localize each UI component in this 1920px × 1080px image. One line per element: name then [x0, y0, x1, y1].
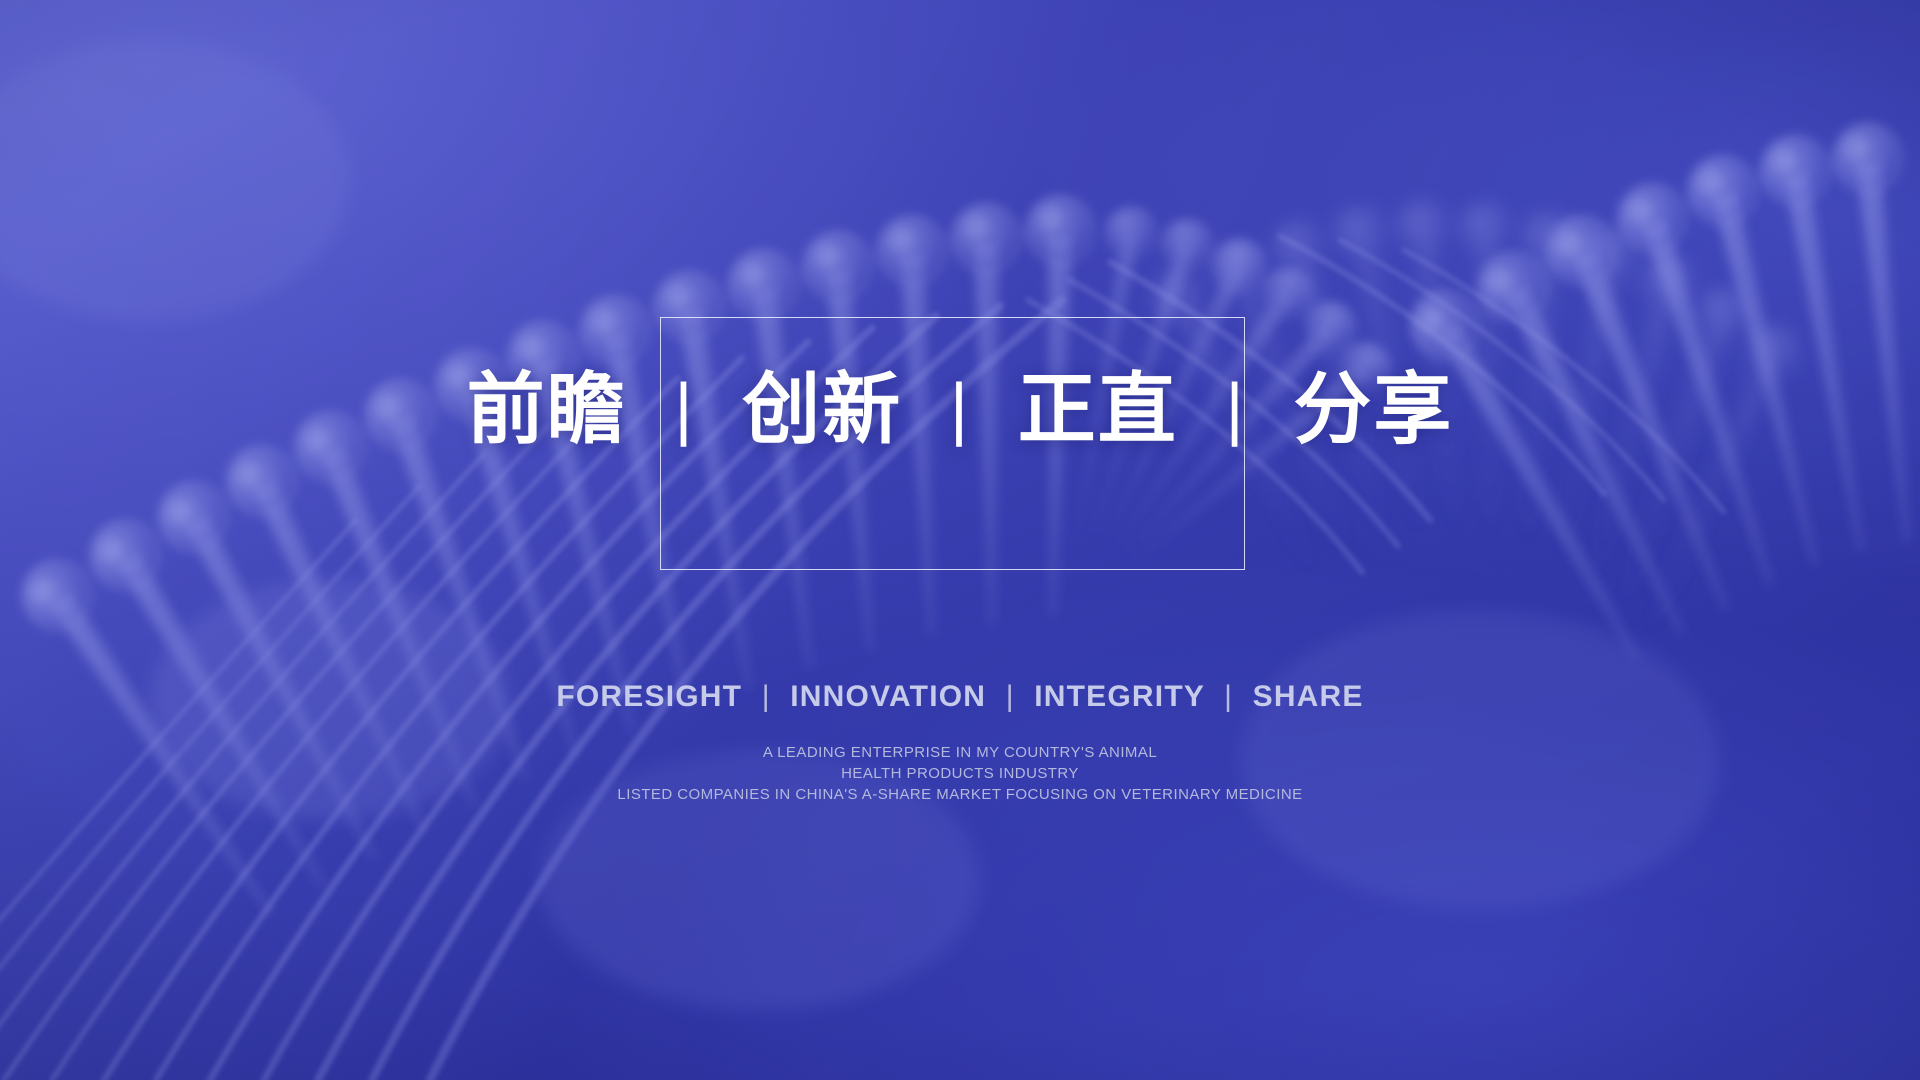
descriptor-line-2: HEALTH PRODUCTS INDUSTRY: [0, 763, 1920, 784]
heading-separator: |: [950, 373, 970, 443]
values-heading-english: FORESIGHT | INNOVATION | INTEGRITY | SHA…: [0, 680, 1920, 714]
descriptor-line-1: A LEADING ENTERPRISE IN MY COUNTRY'S ANI…: [0, 742, 1920, 763]
value-word-innovation-cn: 创新: [742, 365, 902, 453]
value-word-share-cn: 分享: [1293, 365, 1453, 453]
english-separator: |: [1006, 680, 1015, 713]
english-separator: |: [1224, 680, 1233, 713]
value-word-foresight-en: FORESIGHT: [556, 680, 742, 713]
value-word-innovation-en: INNOVATION: [790, 680, 986, 713]
value-word-foresight-cn: 前瞻: [467, 365, 627, 453]
value-word-share-en: SHARE: [1253, 680, 1364, 713]
heading-separator: |: [1225, 373, 1245, 443]
heading-separator: |: [674, 373, 694, 443]
slide-canvas: 前瞻 | 创新 | 正直 | 分享 FORESIGHT | INNOVATION…: [0, 0, 1920, 1080]
company-descriptor: A LEADING ENTERPRISE IN MY COUNTRY'S ANI…: [0, 742, 1920, 805]
english-separator: |: [762, 680, 771, 713]
value-word-integrity-en: INTEGRITY: [1034, 680, 1204, 713]
descriptor-line-3: LISTED COMPANIES IN CHINA'S A-SHARE MARK…: [0, 784, 1920, 805]
value-word-integrity-cn: 正直: [1018, 365, 1178, 453]
values-heading-chinese: 前瞻 | 创新 | 正直 | 分享: [0, 370, 1920, 448]
